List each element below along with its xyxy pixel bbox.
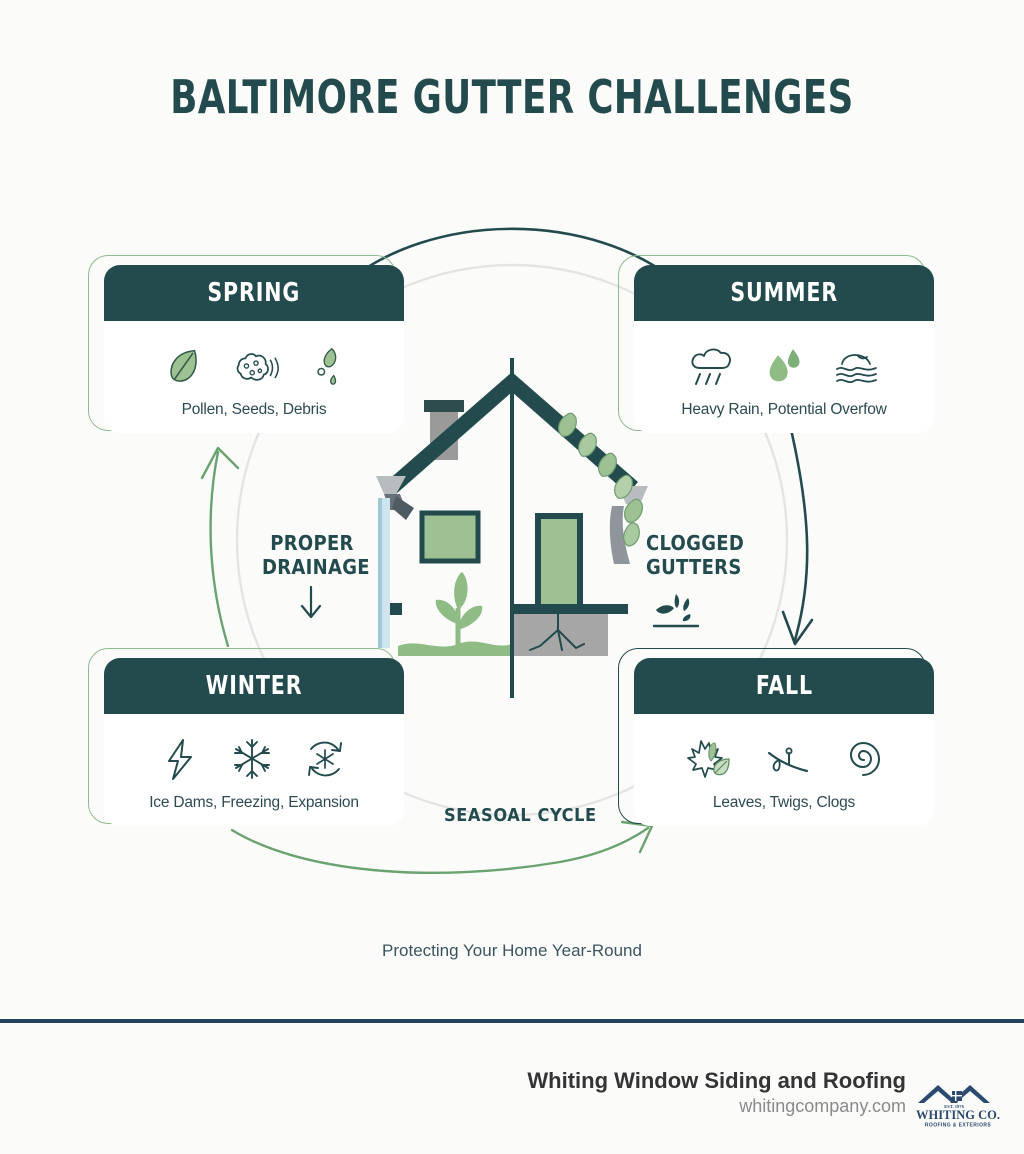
overflow-waves-icon bbox=[832, 342, 882, 390]
arrow-winter-to-spring-head bbox=[202, 448, 238, 478]
card-title-summer: SUMMER bbox=[730, 278, 838, 308]
card-caption-spring: Pollen, Seeds, Debris bbox=[182, 401, 327, 419]
arrow-winter-to-fall-head bbox=[622, 822, 652, 852]
door-right bbox=[538, 516, 580, 608]
card-header-summer: SUMMER bbox=[634, 265, 934, 321]
roof-right bbox=[512, 372, 638, 494]
card-body-summer: Heavy Rain, Potential Overfow bbox=[634, 321, 934, 433]
card-caption-fall: Leaves, Twigs, Clogs bbox=[713, 794, 855, 812]
arrow-summer-to-fall-head bbox=[783, 612, 812, 644]
page-title: BALTIMORE GUTTER CHALLENGES bbox=[72, 70, 953, 124]
icon-row-winter bbox=[159, 732, 349, 786]
card-title-winter: WINTER bbox=[206, 671, 303, 701]
chimney-cap bbox=[424, 400, 464, 412]
wall-vent-left bbox=[390, 603, 402, 615]
card-body-winter: Ice Dams, Freezing, Expansion bbox=[104, 714, 404, 826]
window-left bbox=[422, 513, 478, 561]
clogged-line-2: GUTTERS bbox=[646, 556, 756, 580]
rain-cloud-icon bbox=[686, 342, 736, 390]
plant-leaf-top bbox=[454, 572, 467, 610]
house-illustration bbox=[362, 358, 662, 698]
drainage-line-1: PROPER bbox=[262, 532, 362, 556]
logo-subtitle: ROOFING & EXTERIORS bbox=[925, 1123, 991, 1129]
freeze-thaw-cycle-icon bbox=[301, 735, 349, 783]
water-droplets-icon bbox=[762, 342, 806, 390]
whiting-co-logo: EST. 1976 WHITING CO. ROOFING & EXTERIOR… bbox=[914, 1077, 1010, 1129]
plant-leaf-left bbox=[436, 600, 458, 624]
label-clogged-gutters: CLOGGED GUTTERS bbox=[646, 532, 756, 579]
logo-window-mullion-h bbox=[952, 1095, 962, 1096]
icon-row-spring bbox=[160, 339, 348, 393]
pollen-cloud-icon bbox=[232, 343, 282, 389]
maple-leaf-icon bbox=[681, 735, 735, 783]
water-splash-icon bbox=[648, 588, 704, 630]
card-title-spring: SPRING bbox=[208, 278, 301, 308]
card-header-spring: SPRING bbox=[104, 265, 404, 321]
footer: Whiting Window Siding and Roofing whitin… bbox=[0, 1023, 1024, 1154]
arrow-summer-to-fall bbox=[790, 425, 807, 640]
card-header-winter: WINTER bbox=[104, 658, 404, 714]
twig-icon bbox=[761, 735, 813, 783]
downspout-bracket-left bbox=[392, 496, 414, 520]
drainage-line-2: DRAINAGE bbox=[262, 556, 362, 580]
icicle-bolt-icon bbox=[159, 735, 203, 783]
arrow-winter-to-spring bbox=[211, 452, 228, 646]
card-body-fall: Leaves, Twigs, Clogs bbox=[634, 714, 934, 826]
spiral-clog-icon bbox=[839, 735, 887, 783]
plant-leaf-right bbox=[458, 606, 482, 630]
label-proper-drainage: PROPER DRAINAGE bbox=[262, 532, 362, 579]
seasonal-cycle-label: SEASOAL CYCLE bbox=[444, 805, 597, 826]
card-caption-winter: Ice Dams, Freezing, Expansion bbox=[149, 794, 359, 812]
tagline: Protecting Your Home Year-Round bbox=[0, 941, 1024, 961]
leaf-icon bbox=[160, 343, 206, 389]
icon-row-summer bbox=[686, 339, 882, 393]
brand-url[interactable]: whitingcompany.com bbox=[527, 1096, 906, 1117]
card-fall-inner: FALL bbox=[634, 658, 934, 826]
card-body-spring: Pollen, Seeds, Debris bbox=[104, 321, 404, 433]
lawn-left bbox=[398, 641, 512, 656]
card-header-fall: FALL bbox=[634, 658, 934, 714]
arrow-winter-to-fall bbox=[232, 828, 648, 873]
porch-step bbox=[512, 604, 628, 614]
clogged-line-1: CLOGGED bbox=[646, 532, 756, 556]
downspout-water-highlight bbox=[378, 498, 382, 648]
card-winter-inner: WINTER bbox=[104, 658, 404, 826]
card-caption-summer: Heavy Rain, Potential Overfow bbox=[681, 401, 886, 419]
card-summer-inner: SUMMER bbox=[634, 265, 934, 433]
card-spring-inner: SPRING bbox=[104, 265, 404, 433]
logo-name: WHITING CO. bbox=[916, 1108, 1000, 1122]
footer-brand-block: Whiting Window Siding and Roofing whitin… bbox=[527, 1068, 906, 1117]
snowflake-icon bbox=[229, 735, 275, 783]
roof-left bbox=[386, 372, 512, 494]
infographic-canvas: BALTIMORE GUTTER CHALLENGES SPRING bbox=[0, 0, 1024, 1154]
card-title-fall: FALL bbox=[755, 671, 812, 701]
down-arrow-icon bbox=[296, 585, 326, 621]
seeds-icon bbox=[308, 343, 348, 389]
brand-name: Whiting Window Siding and Roofing bbox=[527, 1068, 906, 1094]
icon-row-fall bbox=[681, 732, 887, 786]
